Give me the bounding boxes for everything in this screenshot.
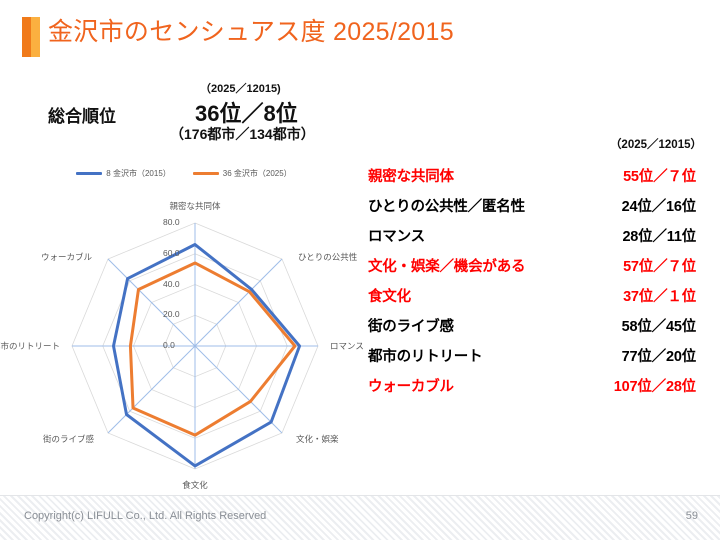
rank-row-category: 親密な共同体 [368, 165, 568, 186]
table-row: 親密な共同体55位／７位 [368, 160, 708, 190]
table-row: 街のライブ感58位／45位 [368, 310, 708, 340]
title-accent-bar-dark [22, 17, 31, 57]
page-title: 金沢市のセンシュアス度 2025/2015 [48, 12, 454, 48]
table-row: ひとりの公共性／匿名性24位／16位 [368, 190, 708, 220]
radar-category-label: ひとりの公共性 [298, 251, 357, 263]
footer-copyright: Copyright(c) LIFULL Co., Ltd. All Rights… [24, 510, 266, 522]
overall-rank-block: （2025／12015) 総合順位 36位／8位 （176都市／134都市） [0, 80, 400, 150]
footer: Copyright(c) LIFULL Co., Ltd. All Rights… [0, 495, 720, 540]
radar-tick-label: 60.0 [163, 248, 180, 258]
rank-row-value: 28位／11位 [568, 225, 696, 246]
title-accent-bar-light [31, 17, 40, 57]
rank-row-value: 58位／45位 [568, 315, 696, 336]
radar-category-label: 都市のリトリート [0, 340, 60, 352]
radar-series-1 [130, 263, 295, 435]
radar-category-label: ウォーカブル [41, 251, 92, 263]
rank-row-value: 107位／28位 [568, 375, 696, 396]
overall-rank-note: （2025／12015) [200, 80, 281, 96]
radar-chart: 8 金沢市（2015）36 金沢市（2025） 親密な共同体ひとりの公共性ロマン… [0, 160, 368, 480]
overall-rank-label: 総合順位 [48, 102, 116, 127]
rank-row-category: 文化・娯楽／機会がある [368, 255, 568, 276]
table-row: ウォーカブル107位／28位 [368, 370, 708, 400]
table-row: 食文化37位／１位 [368, 280, 708, 310]
rank-row-value: 77位／20位 [568, 345, 696, 366]
legend-label: 36 金沢市（2025） [223, 168, 292, 179]
radar-category-label: 街のライブ感 [43, 433, 94, 445]
rank-row-value: 37位／１位 [568, 285, 696, 306]
rank-row-value: 24位／16位 [568, 195, 696, 216]
rank-row-category: ロマンス [368, 225, 568, 246]
radar-tick-label: 0.0 [163, 340, 175, 350]
title-bar: 金沢市のセンシュアス度 2025/2015 [0, 14, 720, 62]
rank-row-category: 食文化 [368, 285, 568, 306]
rank-row-category: 街のライブ感 [368, 315, 568, 336]
rank-row-value: 57位／７位 [568, 255, 696, 276]
table-row: 都市のリトリート77位／20位 [368, 340, 708, 370]
radar-category-label: 文化・娯楽 [296, 433, 339, 445]
table-row: ロマンス28位／11位 [368, 220, 708, 250]
footer-page-number: 59 [686, 510, 698, 522]
radar-category-label: 親密な共同体 [169, 200, 220, 212]
table-row: 文化・娯楽／機会がある57位／７位 [368, 250, 708, 280]
legend-label: 8 金沢市（2015） [106, 168, 170, 179]
rank-row-category: ウォーカブル [368, 375, 568, 396]
rank-row-category: 都市のリトリート [368, 345, 568, 366]
rank-row-value: 55位／７位 [568, 165, 696, 186]
radar-category-label: ロマンス [330, 340, 364, 352]
legend-swatch-icon [76, 172, 102, 175]
legend-entry[interactable]: 36 金沢市（2025） [193, 168, 292, 179]
rank-table-rows: 親密な共同体55位／７位ひとりの公共性／匿名性24位／16位ロマンス28位／11… [368, 160, 708, 400]
legend-entry[interactable]: 8 金沢市（2015） [76, 168, 170, 179]
radar-tick-label: 80.0 [163, 217, 180, 227]
radar-series-0 [114, 245, 300, 466]
radar-category-label: 食文化 [182, 479, 208, 491]
radar-tick-label: 20.0 [163, 309, 180, 319]
rank-table-note: （2025／12015） [610, 136, 702, 152]
radar-tick-label: 40.0 [163, 279, 180, 289]
legend-swatch-icon [193, 172, 219, 175]
overall-rank-sub: （176都市／134都市） [170, 124, 315, 144]
rank-row-category: ひとりの公共性／匿名性 [368, 195, 568, 216]
